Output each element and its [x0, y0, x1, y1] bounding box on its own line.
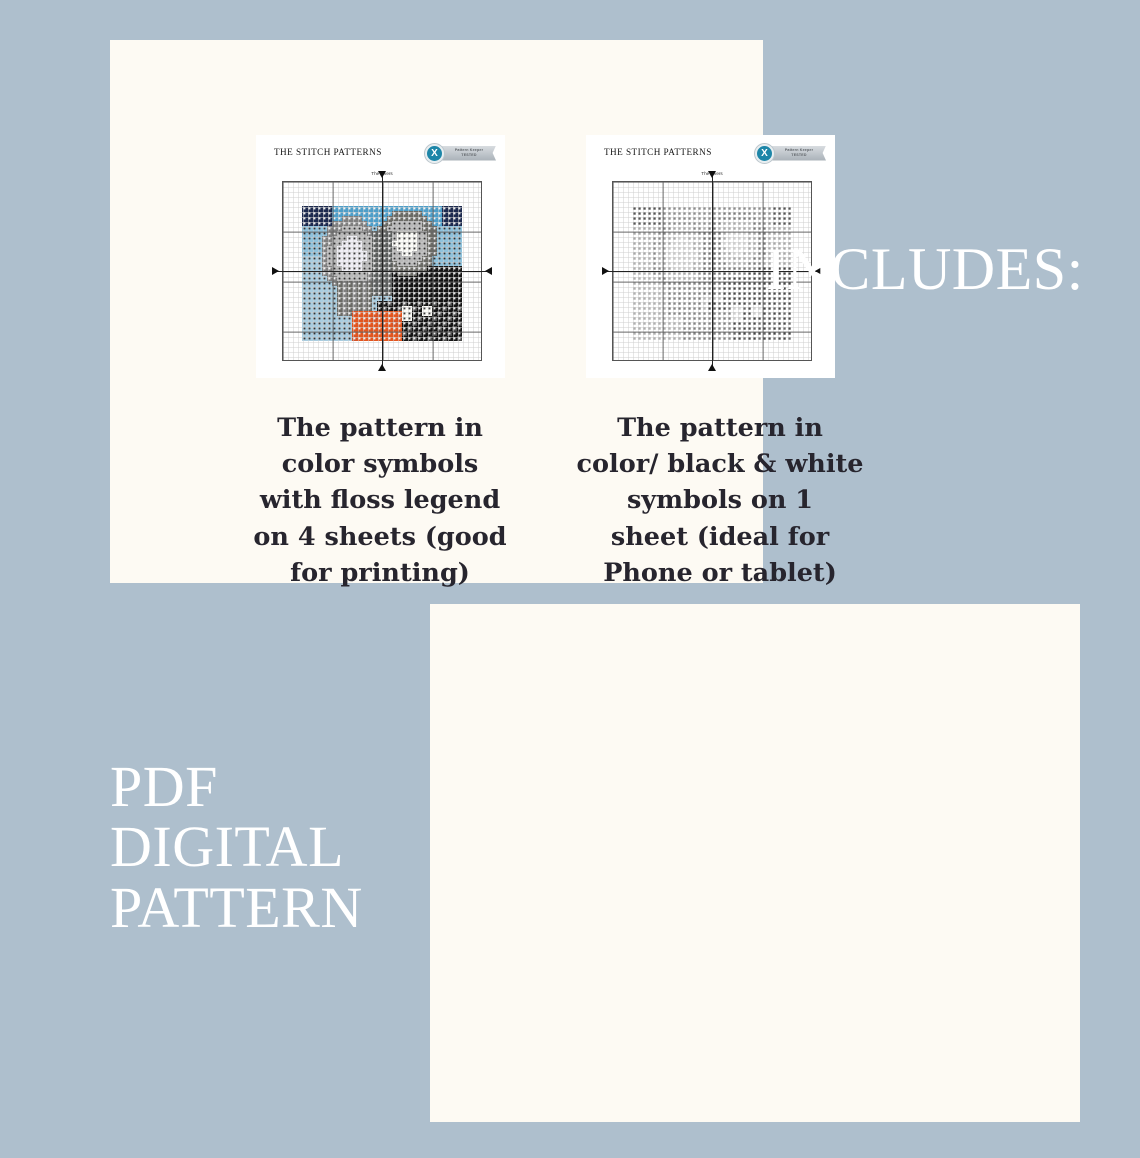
sheet-brand-title: THE STITCH PATTERNS — [274, 147, 382, 157]
bottom-feature-panel: THE STITCH PATTERNS Pattern Keeper TESTE… — [430, 604, 1080, 1122]
ribbon-line-2: TESTED — [776, 153, 822, 157]
sheet-brand-title: THE STITCH PATTERNS — [604, 147, 712, 157]
preview-sheet-color-chart[interactable]: THE STITCH PATTERNS Pattern Keeper TESTE… — [256, 135, 505, 378]
chart-marker-left — [272, 267, 279, 275]
includes-headline: INCLUDES: — [766, 238, 1084, 300]
caption-bw-symbols: The pattern in color/ black & white symb… — [572, 410, 868, 591]
caption-color-symbols: The pattern in color symbols with floss … — [242, 410, 518, 591]
ribbon-line-1: Pattern Keeper — [776, 148, 822, 152]
ribbon-line-1: Pattern Keeper — [446, 148, 492, 152]
seal-inner-circle: X — [427, 146, 442, 161]
sheet-header: THE STITCH PATTERNS Pattern Keeper TESTE… — [586, 135, 835, 169]
cross-stitch-x-icon: X — [431, 149, 438, 159]
pattern-keeper-tested-badge: Pattern Keeper TESTED X — [424, 143, 496, 164]
poster-canvas: THE STITCH PATTERNS Pattern Keeper TESTE… — [0, 0, 1140, 1158]
cross-stitch-x-icon: X — [761, 149, 768, 159]
sheet-header: THE STITCH PATTERNS Pattern Keeper TESTE… — [256, 135, 505, 169]
chart-center-line-vertical — [712, 172, 713, 370]
pdf-digital-pattern-headline: PDF DIGITAL PATTERN — [110, 757, 363, 938]
chart-marker-top — [708, 171, 716, 178]
top-feature-panel: THE STITCH PATTERNS Pattern Keeper TESTE… — [110, 40, 763, 583]
chart-marker-bottom — [378, 364, 386, 371]
chart-center-line-vertical — [382, 172, 383, 370]
ribbon-line-2: TESTED — [446, 153, 492, 157]
seal-icon: X — [424, 143, 445, 164]
chart-marker-left — [602, 267, 609, 275]
seal-inner-circle: X — [757, 146, 772, 161]
seal-icon: X — [754, 143, 775, 164]
color-cross-stitch-chart: The lovers — [282, 181, 482, 361]
chart-marker-bottom — [708, 364, 716, 371]
chart-marker-right — [485, 267, 492, 275]
chart-marker-top — [378, 171, 386, 178]
pattern-keeper-tested-badge: Pattern Keeper TESTED X — [754, 143, 826, 164]
